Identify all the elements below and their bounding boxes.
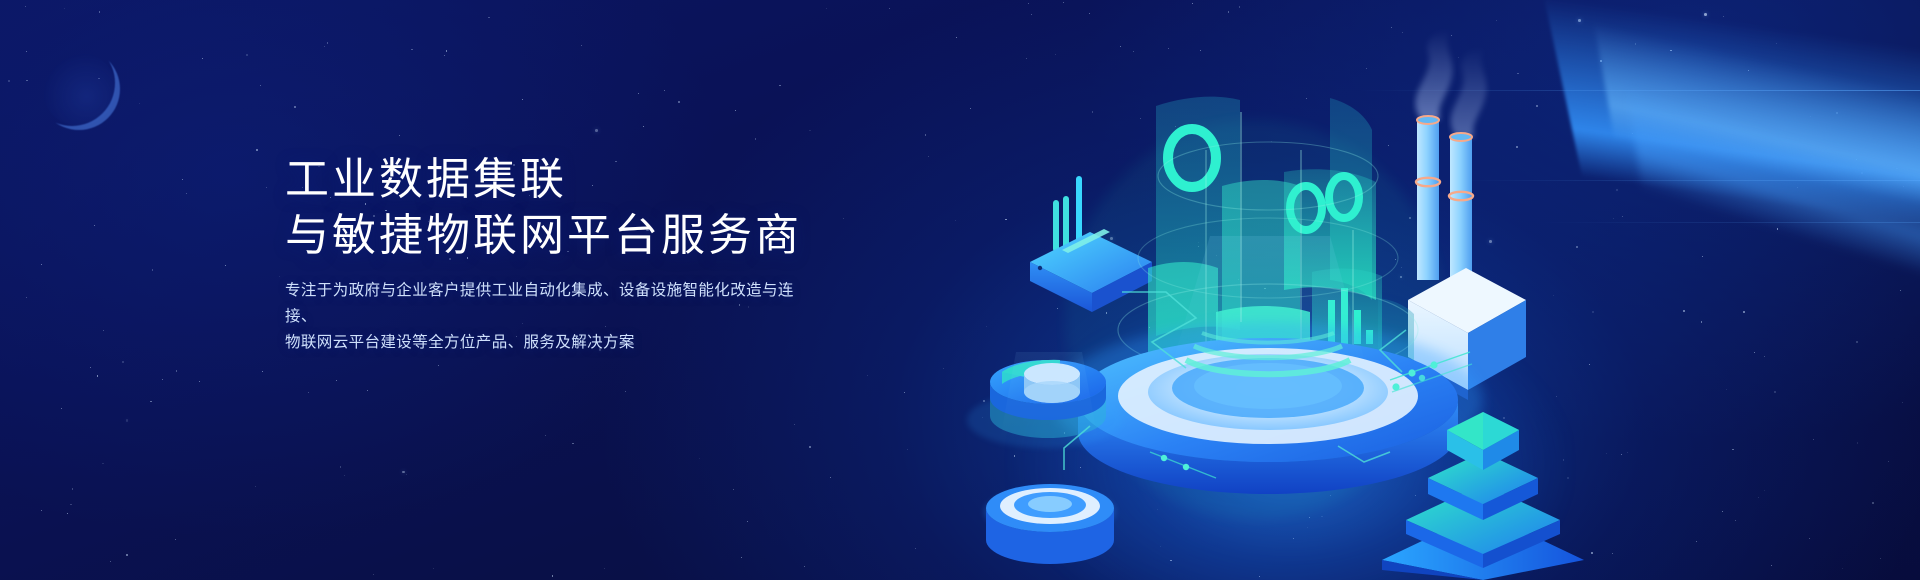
headline-line-2: 与敏捷物联网平台服务商 — [285, 208, 845, 264]
headline-line-1: 工业数据集联 — [285, 152, 845, 208]
hero-text-block: 工业数据集联 与敏捷物联网平台服务商 专注于为政府与企业客户提供工业自动化集成、… — [285, 152, 845, 356]
horizon-line-lower — [1540, 222, 1920, 223]
ring-icon-pair — [1290, 176, 1359, 230]
horizon-line-upper — [1360, 90, 1920, 91]
crescent-moon-icon — [38, 48, 120, 130]
light-streak-tertiary — [1613, 0, 1920, 344]
ring-icon-left — [1168, 129, 1216, 187]
hero-banner: 工业数据集联 与敏捷物联网平台服务商 专注于为政府与企业客户提供工业自动化集成、… — [0, 0, 1920, 580]
light-streak-primary — [1531, 0, 1920, 359]
light-streak-secondary — [1577, 0, 1920, 338]
platform-glow — [1010, 290, 1570, 580]
horizon-line-mid — [1460, 180, 1920, 181]
subtitle-line-1: 专注于为政府与企业客户提供工业自动化集成、设备设施智能化改造与连接、 — [285, 278, 805, 330]
subtitle-line-2: 物联网云平台建设等全方位产品、服务及解决方案 — [285, 330, 805, 356]
